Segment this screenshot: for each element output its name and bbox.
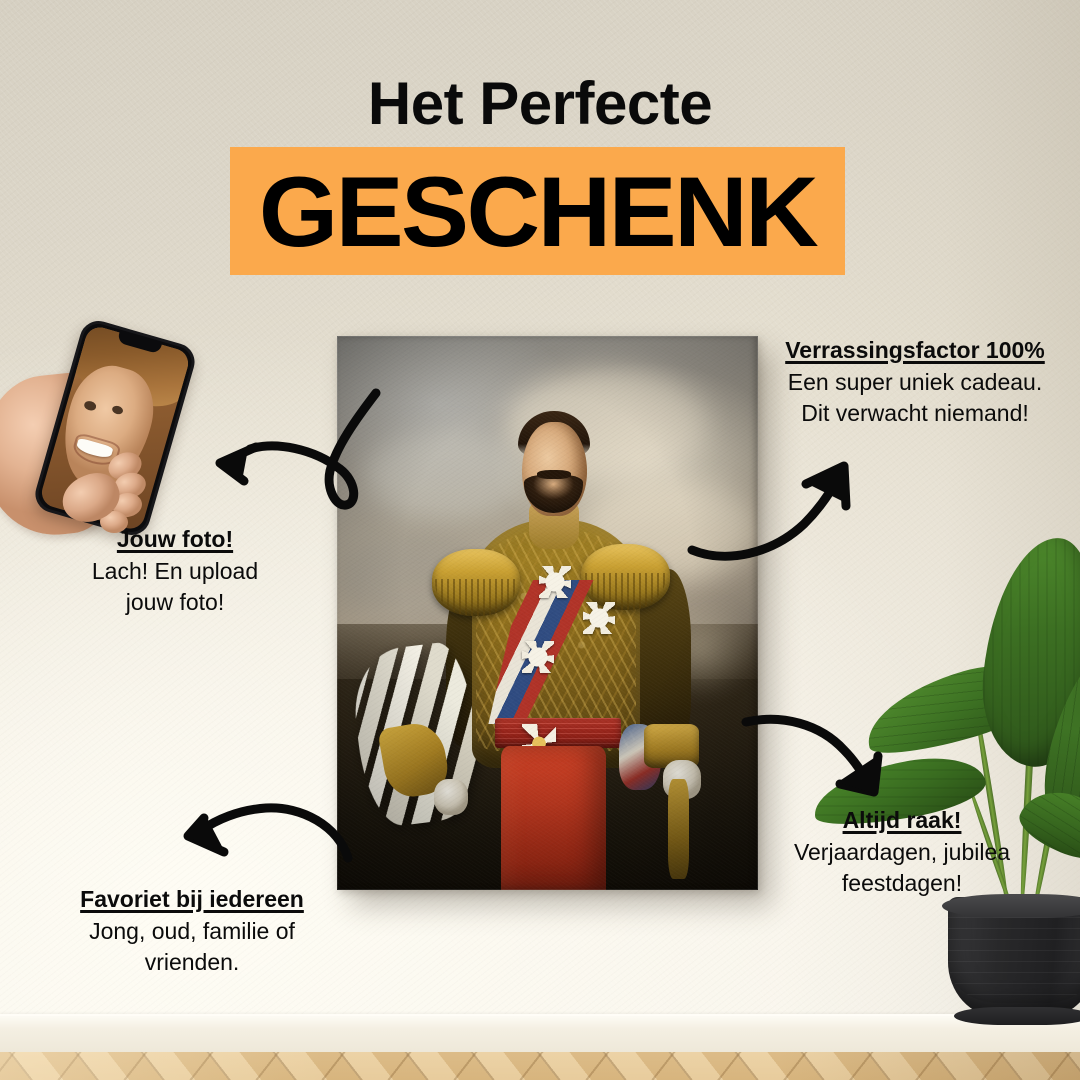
officer-figure <box>337 336 758 890</box>
headline-banner: GESCHENK <box>230 147 845 275</box>
arrow-canvas-to-phone <box>180 385 380 535</box>
callout-line: Jong, oud, familie of <box>42 916 342 947</box>
callout-altijd-raak: Altijd raak! Verjaardagen, jubilea feest… <box>762 805 1042 899</box>
portrait-canvas[interactable] <box>337 336 758 890</box>
hand-holding-smartphone-selfie[interactable] <box>0 325 210 550</box>
red-waist-sash <box>495 718 621 748</box>
arrow-canvas-to-surprise <box>688 438 868 568</box>
callout-favoriet: Favoriet bij iedereen Jong, oud, familie… <box>42 884 342 978</box>
callout-line: Verjaardagen, jubilea <box>762 837 1042 868</box>
callout-title: Verrassingsfactor 100% <box>760 335 1070 365</box>
floor-shading <box>0 1052 1080 1080</box>
red-trousers <box>501 746 606 890</box>
callout-verrassingsfactor: Verrassingsfactor 100% Een super uniek c… <box>760 335 1070 429</box>
arrow-canvas-to-always <box>742 700 932 810</box>
epaulette-left <box>432 549 520 615</box>
callout-line: feestdagen! <box>762 868 1042 899</box>
plant-pot-ribs <box>948 917 1080 1003</box>
plant-pot-saucer <box>954 1007 1080 1025</box>
medal-star <box>583 602 615 634</box>
medal-star <box>539 566 571 598</box>
callout-line: Dit verwacht niemand! <box>760 398 1070 429</box>
callout-title: Jouw foto! <box>40 524 310 554</box>
callout-line: Een super uniek cadeau. <box>760 367 1070 398</box>
promo-poster: Het Perfecte GESCHENK <box>0 0 1080 1080</box>
white-glove-left <box>434 779 468 815</box>
callout-line: Lach! En upload <box>40 556 310 587</box>
callout-line: vrienden. <box>42 947 342 978</box>
officer-moustache <box>537 470 571 479</box>
headline-line1: Het Perfecte <box>0 74 1080 134</box>
callout-jouw-foto: Jouw foto! Lach! En upload jouw foto! <box>40 524 310 618</box>
medal-star <box>522 641 554 673</box>
arrow-canvas-to-favorite <box>162 788 352 898</box>
callout-title: Altijd raak! <box>762 805 1042 835</box>
headline-line2: GESCHENK <box>259 162 816 261</box>
sword-hilt <box>668 779 689 879</box>
military-officer-portrait-painting <box>337 336 758 890</box>
callout-line: jouw foto! <box>40 587 310 618</box>
callout-title: Favoriet bij iedereen <box>42 884 342 914</box>
